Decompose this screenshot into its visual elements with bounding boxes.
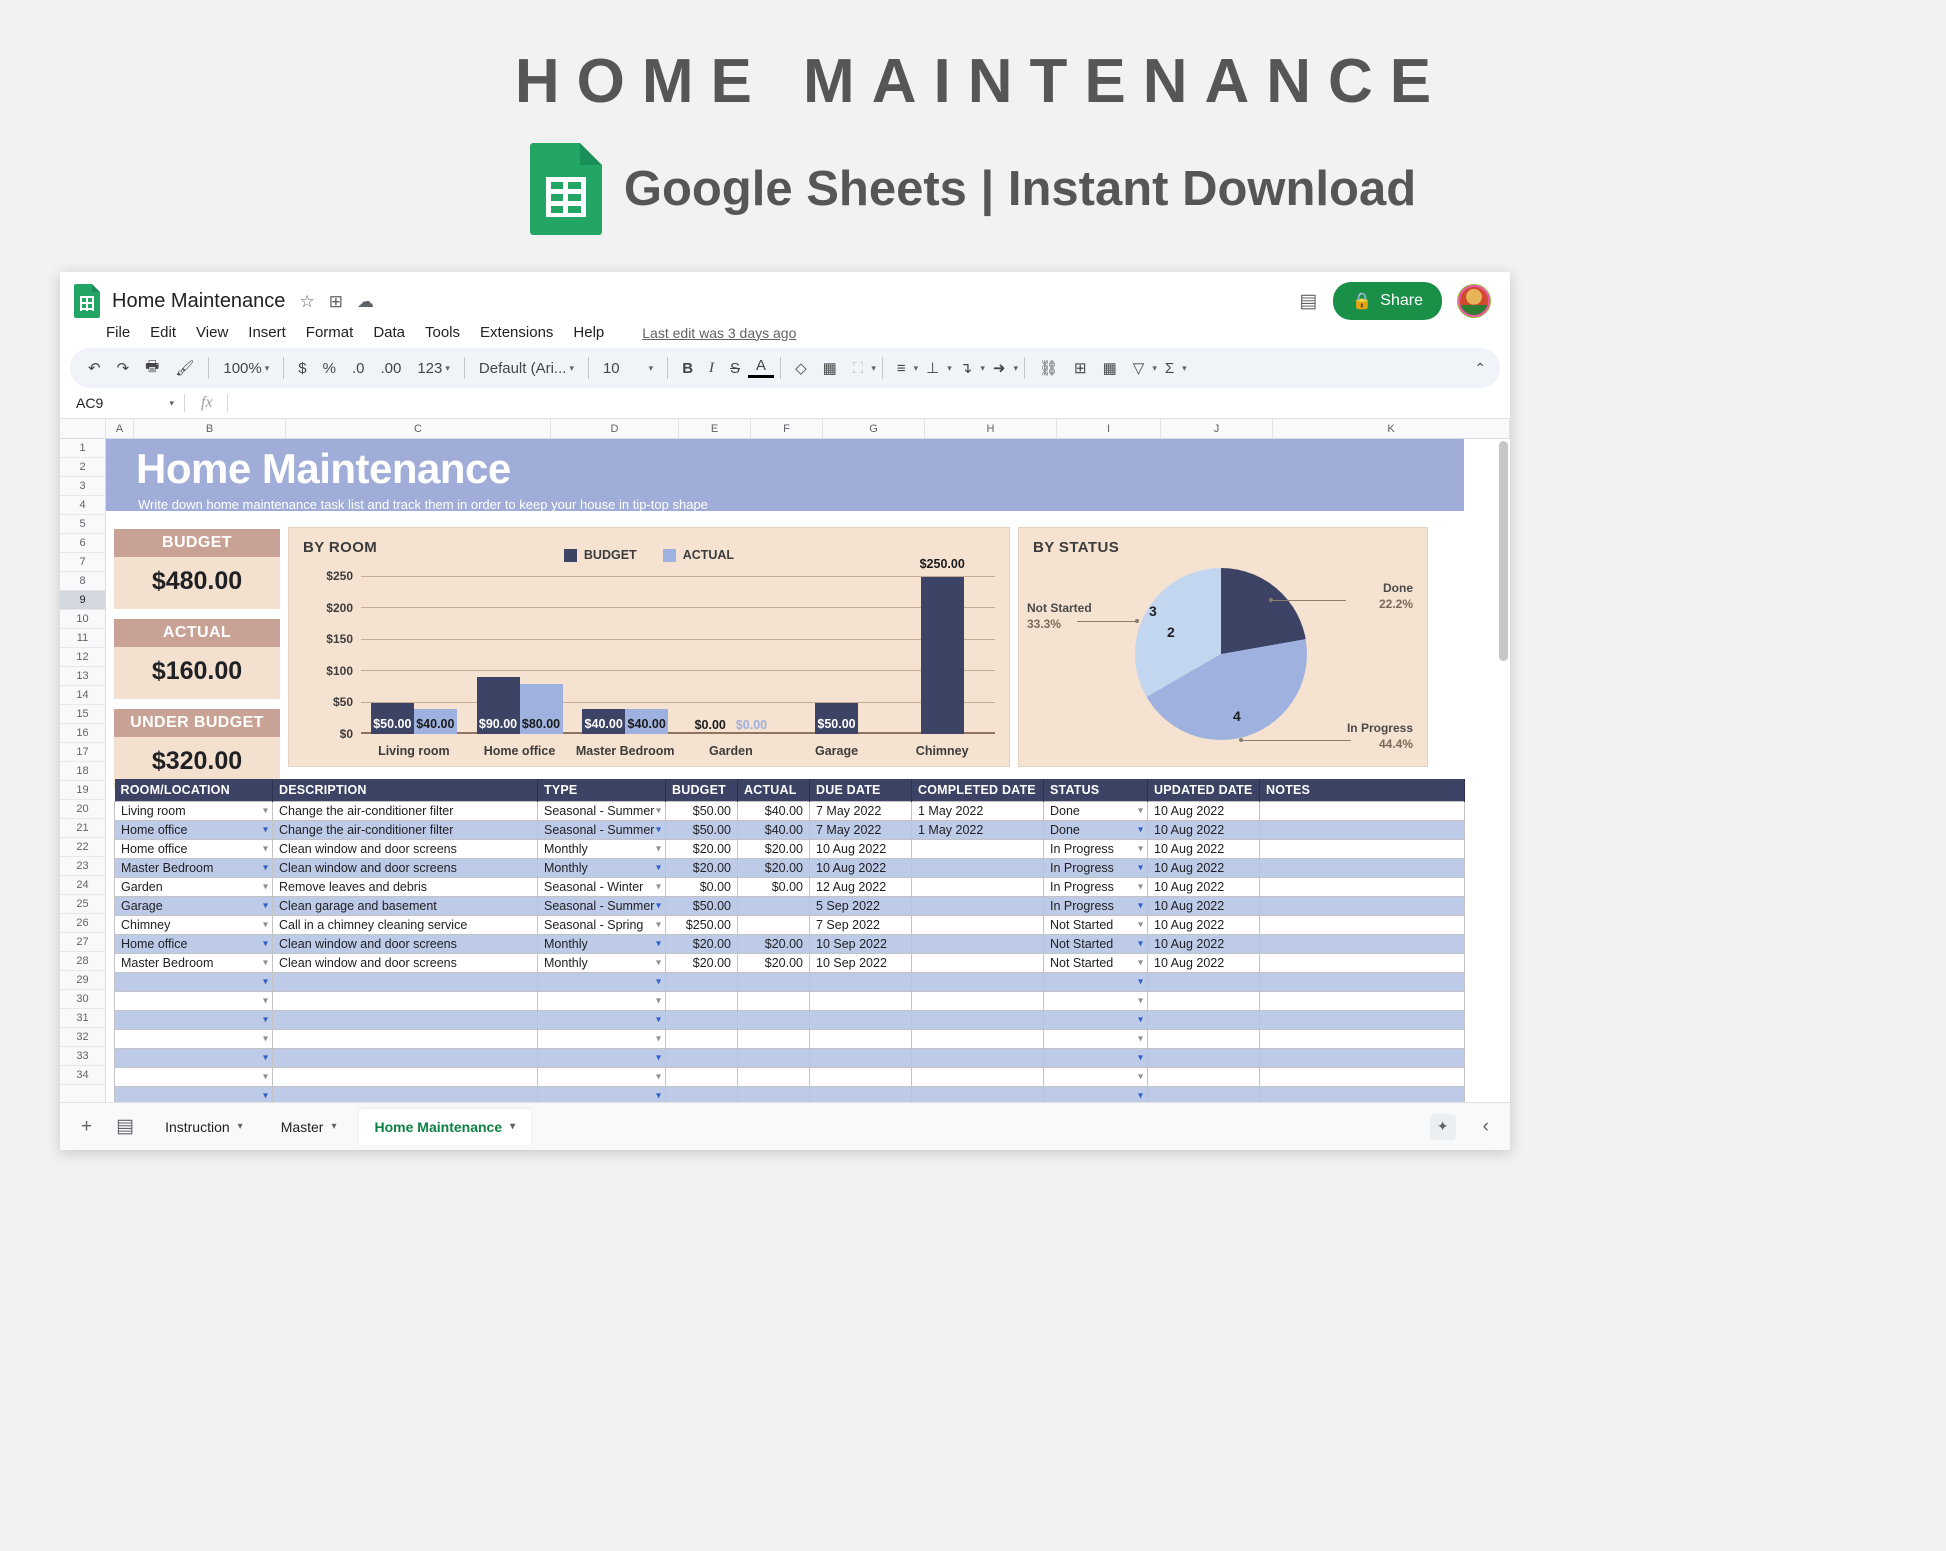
cell-room[interactable]: Garage (115, 897, 273, 916)
cell-budget[interactable] (666, 973, 738, 992)
cell-due[interactable] (810, 1068, 912, 1087)
cell-room[interactable]: Home office (115, 840, 273, 859)
row-header-30[interactable]: 30 (60, 990, 105, 1009)
all-sheets-icon[interactable]: ▤ (107, 1115, 143, 1138)
cell-updated[interactable]: 10 Aug 2022 (1148, 935, 1260, 954)
menu-item-data[interactable]: Data (373, 324, 405, 341)
cell-room[interactable] (115, 1068, 273, 1087)
cell-budget[interactable]: $20.00 (666, 840, 738, 859)
cell-description[interactable]: Call in a chimney cleaning service (273, 916, 538, 935)
chevron-down-icon[interactable]: ▾ (1182, 363, 1187, 374)
table-row[interactable]: Living roomChange the air-conditioner fi… (115, 802, 1465, 821)
cell-room[interactable] (115, 1049, 273, 1068)
cell-actual[interactable]: $40.00 (738, 802, 810, 821)
table-row[interactable] (115, 1030, 1465, 1049)
cell-actual[interactable] (738, 897, 810, 916)
cell-budget[interactable] (666, 1049, 738, 1068)
cell-updated[interactable] (1148, 1068, 1260, 1087)
percent-format-icon[interactable]: % (315, 360, 344, 377)
row-header-3[interactable]: 3 (60, 477, 105, 496)
column-header-f[interactable]: F (751, 419, 823, 438)
cell-due[interactable]: 10 Aug 2022 (810, 859, 912, 878)
cell-actual[interactable]: $20.00 (738, 840, 810, 859)
row-header-24[interactable]: 24 (60, 876, 105, 895)
cell-updated[interactable] (1148, 1030, 1260, 1049)
row-header-8[interactable]: 8 (60, 572, 105, 591)
row-header-22[interactable]: 22 (60, 838, 105, 857)
cell-type[interactable] (538, 1030, 666, 1049)
cell-budget[interactable] (666, 992, 738, 1011)
cell-budget[interactable]: $20.00 (666, 954, 738, 973)
cell-budget[interactable]: $0.00 (666, 878, 738, 897)
cell-budget[interactable] (666, 1030, 738, 1049)
cell-due[interactable]: 12 Aug 2022 (810, 878, 912, 897)
cell-notes[interactable] (1260, 954, 1465, 973)
pie-label-done-name: Done (1383, 581, 1413, 595)
cell-room[interactable] (115, 992, 273, 1011)
sheet-tab-master[interactable]: Master ▾ (265, 1109, 353, 1145)
cell-updated[interactable]: 10 Aug 2022 (1148, 897, 1260, 916)
cell-completed[interactable] (912, 1068, 1044, 1087)
cell-status[interactable] (1044, 1030, 1148, 1049)
cell-status[interactable]: Done (1044, 821, 1148, 840)
cell-actual[interactable] (738, 1068, 810, 1087)
cell-actual[interactable]: $20.00 (738, 859, 810, 878)
menu-item-format[interactable]: Format (306, 324, 354, 341)
column-header-i[interactable]: I (1057, 419, 1161, 438)
column-header-g[interactable]: G (823, 419, 925, 438)
cell-room[interactable] (115, 1030, 273, 1049)
cell-actual[interactable]: $0.00 (738, 878, 810, 897)
column-header-a[interactable]: A (106, 419, 134, 438)
pie-value-not-started: 3 (1149, 603, 1157, 619)
font-size-selector[interactable]: 10 ▾ (595, 360, 661, 377)
corner-select-all[interactable] (60, 419, 106, 438)
cell-completed[interactable] (912, 1049, 1044, 1068)
row-header-20[interactable]: 20 (60, 800, 105, 819)
cell-budget[interactable]: $50.00 (666, 821, 738, 840)
menu-item-file[interactable]: File (106, 324, 130, 341)
cell-status[interactable] (1044, 1049, 1148, 1068)
row-header-12[interactable]: 12 (60, 648, 105, 667)
row-header-29[interactable]: 29 (60, 971, 105, 990)
font-family-selector[interactable]: Default (Ari... ▾ (471, 360, 582, 377)
borders-icon[interactable]: ▦ (815, 359, 845, 377)
cell-completed[interactable] (912, 935, 1044, 954)
chevron-down-icon[interactable]: ▾ (331, 1121, 336, 1132)
cell-type[interactable]: Monthly (538, 935, 666, 954)
cell-budget[interactable]: $50.00 (666, 897, 738, 916)
cell-updated[interactable]: 10 Aug 2022 (1148, 802, 1260, 821)
row-header-18[interactable]: 18 (60, 762, 105, 781)
cell-status[interactable]: Done (1044, 802, 1148, 821)
cell-description[interactable]: Remove leaves and debris (273, 878, 538, 897)
cell-notes[interactable] (1260, 973, 1465, 992)
horizontal-align-icon[interactable]: ≡ (889, 360, 914, 377)
cell-budget[interactable]: $50.00 (666, 802, 738, 821)
text-color-icon[interactable]: A (748, 358, 774, 378)
table-row[interactable] (115, 1068, 1465, 1087)
increase-decimal-icon[interactable]: .00 (372, 360, 409, 377)
star-icon[interactable]: ☆ (299, 293, 314, 310)
row-header-14[interactable]: 14 (60, 686, 105, 705)
cell-actual[interactable] (738, 992, 810, 1011)
table-row[interactable]: ChimneyCall in a chimney cleaning servic… (115, 916, 1465, 935)
column-header-e[interactable]: E (679, 419, 751, 438)
bar-budget: $250.00 (921, 577, 964, 734)
cell-status[interactable] (1044, 1011, 1148, 1030)
cell-status[interactable] (1044, 1068, 1148, 1087)
explore-icon[interactable]: ✦ (1430, 1114, 1456, 1140)
cell-completed[interactable]: 1 May 2022 (912, 821, 1044, 840)
cell-actual[interactable]: $20.00 (738, 954, 810, 973)
share-button[interactable]: 🔒 Share (1333, 282, 1442, 320)
table-row[interactable]: Home officeChange the air-conditioner fi… (115, 821, 1465, 840)
strikethrough-icon[interactable]: S (722, 360, 748, 377)
table-row[interactable]: GardenRemove leaves and debrisSeasonal -… (115, 878, 1465, 897)
insert-comment-icon[interactable]: ⊞ (1066, 359, 1095, 377)
column-header-j[interactable]: J (1161, 419, 1273, 438)
cell-actual[interactable] (738, 916, 810, 935)
column-header-h[interactable]: H (925, 419, 1057, 438)
row-headers: 1234567891011121314151617181920212223242… (60, 439, 106, 1119)
cell-budget[interactable] (666, 1068, 738, 1087)
cell-completed[interactable] (912, 954, 1044, 973)
cell-type[interactable]: Seasonal - Summer (538, 821, 666, 840)
row-header-21[interactable]: 21 (60, 819, 105, 838)
x-axis-label: Living room (361, 744, 467, 758)
sheet-tab-instruction[interactable]: Instruction ▾ (149, 1109, 259, 1145)
cell-due[interactable]: 7 May 2022 (810, 802, 912, 821)
cell-actual[interactable] (738, 973, 810, 992)
cell-type[interactable] (538, 1068, 666, 1087)
row-header-7[interactable]: 7 (60, 553, 105, 572)
cell-status[interactable]: Not Started (1044, 935, 1148, 954)
cell-due[interactable]: 7 May 2022 (810, 821, 912, 840)
cell-updated[interactable] (1148, 992, 1260, 1011)
menu-item-edit[interactable]: Edit (150, 324, 176, 341)
cell-actual[interactable] (738, 1030, 810, 1049)
vertical-align-icon[interactable]: ⊥ (918, 359, 947, 377)
bar-value-label: $80.00 (522, 717, 560, 731)
vertical-scrollbar[interactable] (1497, 439, 1510, 1119)
cell-budget[interactable]: $20.00 (666, 935, 738, 954)
cell-status[interactable]: Not Started (1044, 954, 1148, 973)
cell-status[interactable]: In Progress (1044, 897, 1148, 916)
table-row[interactable]: Master BedroomClean window and door scre… (115, 859, 1465, 878)
cell-type[interactable]: Monthly (538, 859, 666, 878)
fill-color-icon[interactable]: ◇ (787, 359, 815, 377)
cell-updated[interactable] (1148, 1049, 1260, 1068)
row-header-26[interactable]: 26 (60, 914, 105, 933)
menu-item-extensions[interactable]: Extensions (480, 324, 553, 341)
cell-due[interactable] (810, 973, 912, 992)
cell-notes[interactable] (1260, 1068, 1465, 1087)
table-row[interactable]: GarageClean garage and basementSeasonal … (115, 897, 1465, 916)
cell-due[interactable] (810, 1011, 912, 1030)
last-edit-status[interactable]: Last edit was 3 days ago (642, 325, 796, 341)
insert-link-icon[interactable]: ⛓ (1031, 359, 1066, 377)
cell-notes[interactable] (1260, 916, 1465, 935)
pie-value-in-progress: 4 (1233, 708, 1241, 724)
cell-completed[interactable]: 1 May 2022 (912, 802, 1044, 821)
decrease-decimal-icon[interactable]: .0 (344, 360, 373, 377)
cell-description[interactable]: Clean window and door screens (273, 954, 538, 973)
cell-updated[interactable] (1148, 973, 1260, 992)
cell-description[interactable] (273, 1030, 538, 1049)
menu-item-tools[interactable]: Tools (425, 324, 460, 341)
bar-group: $50.00 (784, 577, 890, 734)
row-header-13[interactable]: 13 (60, 667, 105, 686)
row-header-32[interactable]: 32 (60, 1028, 105, 1047)
chevron-down-icon[interactable]: ▾ (510, 1121, 515, 1132)
undo-icon[interactable]: ↶ (80, 359, 109, 377)
cell-completed[interactable] (912, 897, 1044, 916)
cell-type[interactable]: Seasonal - Winter (538, 878, 666, 897)
cell-completed[interactable] (912, 916, 1044, 935)
cell-notes[interactable] (1260, 935, 1465, 954)
name-box[interactable]: AC9 ▾ (60, 388, 184, 418)
cell-type[interactable]: Seasonal - Spring (538, 916, 666, 935)
bar-value-label: $250.00 (920, 557, 965, 571)
cell-completed[interactable] (912, 878, 1044, 897)
sheet-tab-bar: + ▤ Instruction ▾ Master ▾ Home Maintena… (60, 1102, 1510, 1150)
cell-room[interactable]: Chimney (115, 916, 273, 935)
cell-notes[interactable] (1260, 821, 1465, 840)
bottom-bar-right: ✦ ‹ (1430, 1114, 1498, 1140)
cell-status[interactable] (1044, 973, 1148, 992)
bar-value-label: $50.00 (817, 717, 855, 731)
row-header-6[interactable]: 6 (60, 534, 105, 553)
create-filter-icon[interactable]: ▽ (1125, 359, 1153, 377)
cell-completed[interactable] (912, 973, 1044, 992)
cell-status[interactable]: In Progress (1044, 859, 1148, 878)
row-header-25[interactable]: 25 (60, 895, 105, 914)
cell-description[interactable] (273, 1068, 538, 1087)
cell-completed[interactable] (912, 1011, 1044, 1030)
bold-icon[interactable]: B (674, 360, 701, 377)
chevron-down-icon: ▾ (649, 363, 654, 374)
cell-room[interactable] (115, 973, 273, 992)
table-row[interactable] (115, 1049, 1465, 1068)
cell-notes[interactable] (1260, 802, 1465, 821)
row-header-11[interactable]: 11 (60, 629, 105, 648)
row-header-16[interactable]: 16 (60, 724, 105, 743)
cell-type[interactable] (538, 1049, 666, 1068)
cell-due[interactable] (810, 992, 912, 1011)
menu-item-view[interactable]: View (196, 324, 228, 341)
cell-notes[interactable] (1260, 840, 1465, 859)
cell-type[interactable]: Seasonal - Summer (538, 802, 666, 821)
cell-actual[interactable]: $20.00 (738, 935, 810, 954)
cell-due[interactable] (810, 1049, 912, 1068)
column-header-c[interactable]: C (286, 419, 551, 438)
cell-description[interactable]: Change the air-conditioner filter (273, 821, 538, 840)
chevron-down-icon[interactable]: ▾ (1013, 363, 1018, 374)
row-header-19[interactable]: 19 (60, 781, 105, 800)
cell-description[interactable]: Clean garage and basement (273, 897, 538, 916)
cell-due[interactable] (810, 1030, 912, 1049)
currency-format-icon[interactable]: $ (290, 360, 314, 377)
cell-budget[interactable]: $250.00 (666, 916, 738, 935)
share-lock-icon: 🔒 (1352, 291, 1372, 311)
legend-label-actual: ACTUAL (683, 548, 734, 562)
cell-actual[interactable] (738, 1049, 810, 1068)
row-header-23[interactable]: 23 (60, 857, 105, 876)
sheet-tab-home-maintenance[interactable]: Home Maintenance ▾ (359, 1109, 532, 1145)
cell-description[interactable]: Clean window and door screens (273, 859, 538, 878)
row-header-2[interactable]: 2 (60, 458, 105, 477)
cell-type[interactable]: Monthly (538, 954, 666, 973)
print-icon[interactable]: 🖶 (137, 356, 167, 381)
table-row[interactable]: Home officeClean window and door screens… (115, 935, 1465, 954)
cell-description[interactable] (273, 1049, 538, 1068)
redo-icon[interactable]: ↷ (109, 359, 138, 377)
row-header-27[interactable]: 27 (60, 933, 105, 952)
cell-room[interactable]: Master Bedroom (115, 859, 273, 878)
cell-type[interactable] (538, 973, 666, 992)
row-header-9[interactable]: 9 (60, 591, 105, 610)
bar-group: $40.00$40.00 (572, 577, 678, 734)
legend-item-budget: BUDGET (564, 548, 637, 562)
cell-notes[interactable] (1260, 1030, 1465, 1049)
cell-updated[interactable]: 10 Aug 2022 (1148, 859, 1260, 878)
cell-updated[interactable]: 10 Aug 2022 (1148, 878, 1260, 897)
cell-description[interactable] (273, 973, 538, 992)
table-row[interactable]: Home officeClean window and door screens… (115, 840, 1465, 859)
table-row[interactable] (115, 1011, 1465, 1030)
cell-description[interactable] (273, 1011, 538, 1030)
sheet-banner-title: Home Maintenance (136, 445, 511, 493)
collapse-toolbar-icon[interactable]: ⌃ (1466, 360, 1490, 377)
cell-status[interactable] (1044, 992, 1148, 1011)
cell-budget[interactable] (666, 1011, 738, 1030)
chevron-down-icon[interactable]: ▾ (871, 363, 876, 374)
cell-type[interactable] (538, 992, 666, 1011)
cell-status[interactable]: Not Started (1044, 916, 1148, 935)
cell-completed[interactable] (912, 840, 1044, 859)
merge-cells-icon[interactable]: ⛶ (845, 360, 872, 377)
bar-chart-x-labels: Living roomHome officeMaster BedroomGard… (361, 744, 995, 758)
chevron-down-icon[interactable]: ▾ (238, 1121, 243, 1132)
cloud-saved-icon[interactable]: ☁ (357, 293, 374, 310)
zoom-selector[interactable]: 100% ▾ (215, 360, 277, 377)
cell-actual[interactable]: $40.00 (738, 821, 810, 840)
cell-updated[interactable]: 10 Aug 2022 (1148, 916, 1260, 935)
cell-description[interactable]: Change the air-conditioner filter (273, 802, 538, 821)
promo-header: HOME MAINTENANCE Google Sheets | Instant… (0, 0, 1946, 235)
cell-due[interactable]: 10 Sep 2022 (810, 935, 912, 954)
toolbar-divider (588, 357, 589, 379)
cell-room[interactable]: Garden (115, 878, 273, 897)
menu-item-help[interactable]: Help (573, 324, 604, 341)
vertical-scrollbar-thumb[interactable] (1499, 441, 1508, 661)
cell-room[interactable]: Living room (115, 802, 273, 821)
cell-updated[interactable]: 10 Aug 2022 (1148, 821, 1260, 840)
text-wrapping-icon[interactable]: ↴ (952, 359, 981, 377)
collapse-panel-icon[interactable]: ‹ (1474, 1116, 1498, 1138)
row-header-31[interactable]: 31 (60, 1009, 105, 1028)
cell-type[interactable]: Seasonal - Summer (538, 897, 666, 916)
column-header-k[interactable]: K (1273, 419, 1510, 438)
row-header-15[interactable]: 15 (60, 705, 105, 724)
cell-room[interactable]: Master Bedroom (115, 954, 273, 973)
document-title[interactable]: Home Maintenance (112, 290, 285, 313)
add-sheet-icon[interactable]: + (72, 1116, 101, 1138)
cell-completed[interactable] (912, 1030, 1044, 1049)
by-status-pie-chart[interactable]: BY STATUS 2 4 3 Done 22.2% In Progress (1018, 527, 1428, 767)
cell-type[interactable]: Monthly (538, 840, 666, 859)
cell-notes[interactable] (1260, 1049, 1465, 1068)
comment-history-icon[interactable]: ▤ (1299, 290, 1317, 313)
table-row[interactable]: Master BedroomClean window and door scre… (115, 954, 1465, 973)
italic-icon[interactable]: I (701, 360, 722, 377)
cell-due[interactable]: 10 Sep 2022 (810, 954, 912, 973)
cell-due[interactable]: 5 Sep 2022 (810, 897, 912, 916)
row-header-28[interactable]: 28 (60, 952, 105, 971)
cell-room[interactable]: Home office (115, 821, 273, 840)
table-row[interactable] (115, 973, 1465, 992)
cell-notes[interactable] (1260, 897, 1465, 916)
text-rotation-icon[interactable]: ➜ (985, 359, 1014, 377)
cell-completed[interactable] (912, 992, 1044, 1011)
cell-updated[interactable]: 10 Aug 2022 (1148, 840, 1260, 859)
table-row[interactable] (115, 992, 1465, 1011)
cell-updated[interactable] (1148, 1011, 1260, 1030)
cell-notes[interactable] (1260, 859, 1465, 878)
cell-due[interactable]: 7 Sep 2022 (810, 916, 912, 935)
row-header-5[interactable]: 5 (60, 515, 105, 534)
cell-notes[interactable] (1260, 992, 1465, 1011)
user-avatar[interactable] (1458, 285, 1490, 317)
row-header-33[interactable]: 33 (60, 1047, 105, 1066)
chevron-down-icon: ▾ (445, 363, 450, 374)
paint-format-icon[interactable]: 🖌 (167, 359, 202, 377)
column-header-b[interactable]: B (134, 419, 286, 438)
row-header-1[interactable]: 1 (60, 439, 105, 458)
by-room-bar-chart[interactable]: BY ROOM BUDGET ACTUAL $0$50$100$150$200$… (288, 527, 1010, 767)
functions-icon[interactable]: Σ (1157, 360, 1182, 377)
menu-item-insert[interactable]: Insert (248, 324, 286, 341)
cell-notes[interactable] (1260, 878, 1465, 897)
cell-completed[interactable] (912, 859, 1044, 878)
col-notes: NOTES (1260, 779, 1465, 802)
cell-budget[interactable]: $20.00 (666, 859, 738, 878)
cell-actual[interactable] (738, 1011, 810, 1030)
cell-room[interactable]: Home office (115, 935, 273, 954)
cell-updated[interactable]: 10 Aug 2022 (1148, 954, 1260, 973)
cell-description[interactable]: Clean window and door screens (273, 840, 538, 859)
row-header-17[interactable]: 17 (60, 743, 105, 762)
cell-status[interactable]: In Progress (1044, 878, 1148, 897)
cell-notes[interactable] (1260, 1011, 1465, 1030)
more-formats-selector[interactable]: 123 ▾ (409, 360, 458, 377)
cell-description[interactable]: Clean window and door screens (273, 935, 538, 954)
column-header-d[interactable]: D (551, 419, 679, 438)
row-header-4[interactable]: 4 (60, 496, 105, 515)
cell-due[interactable]: 10 Aug 2022 (810, 840, 912, 859)
bar-budget: $40.00 (582, 709, 625, 734)
cell-status[interactable]: In Progress (1044, 840, 1148, 859)
move-to-folder-icon[interactable]: ⊞ (329, 293, 343, 310)
row-header-10[interactable]: 10 (60, 610, 105, 629)
cell-type[interactable] (538, 1011, 666, 1030)
cell-description[interactable] (273, 992, 538, 1011)
insert-chart-icon[interactable]: ▦ (1095, 359, 1125, 377)
row-header-34[interactable]: 34 (60, 1066, 105, 1085)
cell-room[interactable] (115, 1011, 273, 1030)
pie-label-in-progress-name: In Progress (1347, 721, 1413, 735)
